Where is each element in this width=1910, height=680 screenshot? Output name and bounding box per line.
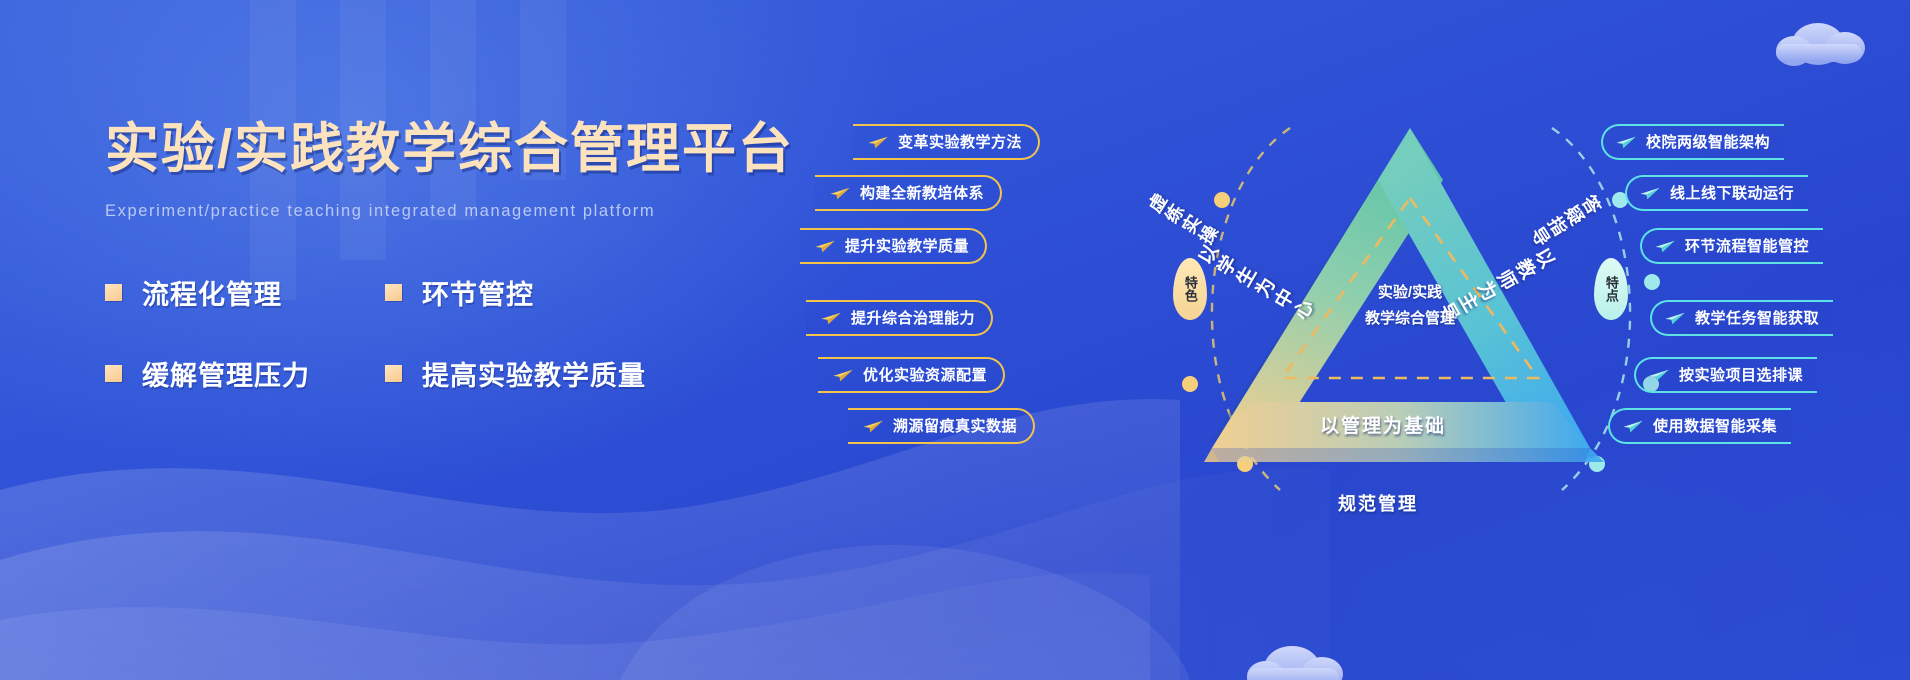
paper-plane-icon bbox=[1664, 311, 1686, 325]
left-pill-2[interactable]: 构建全新教培体系 bbox=[815, 175, 1002, 211]
paper-plane-icon bbox=[862, 419, 884, 433]
feature-bullet-list: 流程化管理 环节管控 缓解管理压力 提高实验教学质量 bbox=[105, 273, 805, 393]
bullet-label: 流程化管理 bbox=[142, 273, 282, 312]
hero-banner: 实验/实践教学综合管理平台 Experiment/practice teachi… bbox=[0, 0, 1910, 680]
right-pill-3[interactable]: 环节流程智能管控 bbox=[1640, 228, 1823, 264]
page-subtitle: Experiment/practice teaching integrated … bbox=[105, 202, 805, 221]
right-pill-label: 校院两级智能架构 bbox=[1646, 135, 1770, 150]
left-pill-label: 变革实验教学方法 bbox=[898, 135, 1022, 150]
left-pill-1[interactable]: 变革实验教学方法 bbox=[853, 124, 1040, 160]
paper-plane-icon bbox=[829, 186, 851, 200]
right-pill-5[interactable]: 按实验项目选排课 bbox=[1634, 357, 1817, 393]
list-item: 流程化管理 bbox=[105, 273, 385, 312]
right-badge-label: 特点 bbox=[1604, 276, 1618, 302]
bullet-square-icon bbox=[385, 284, 402, 301]
bullet-square-icon bbox=[105, 365, 122, 382]
paper-plane-icon bbox=[1648, 368, 1670, 382]
bullet-label: 环节管控 bbox=[422, 273, 534, 312]
cloud-icon-bottom-center bbox=[1247, 646, 1343, 680]
right-pill-4[interactable]: 教学任务智能获取 bbox=[1650, 300, 1833, 336]
paper-plane-icon bbox=[832, 368, 854, 382]
right-pill-label: 使用数据智能采集 bbox=[1653, 419, 1777, 434]
outer-label-bottom: 规范管理 bbox=[1338, 490, 1418, 516]
right-pill-label: 按实验项目选排课 bbox=[1679, 368, 1803, 383]
right-pill-2[interactable]: 线上线下联动运行 bbox=[1625, 175, 1808, 211]
paper-plane-icon bbox=[867, 135, 889, 149]
paper-plane-icon bbox=[1639, 186, 1661, 200]
triangle-center-line2: 教学综合管理 bbox=[1326, 306, 1494, 332]
bullet-label: 缓解管理压力 bbox=[142, 354, 310, 393]
bullet-square-icon bbox=[385, 365, 402, 382]
paper-plane-icon bbox=[1622, 419, 1644, 433]
left-pill-label: 溯源留痕真实数据 bbox=[893, 419, 1017, 434]
left-pill-4[interactable]: 提升综合治理能力 bbox=[806, 300, 993, 336]
left-pill-label: 构建全新教培体系 bbox=[860, 186, 984, 201]
bullet-square-icon bbox=[105, 284, 122, 301]
paper-plane-icon bbox=[1654, 239, 1676, 253]
left-pill-6[interactable]: 溯源留痕真实数据 bbox=[848, 408, 1035, 444]
triangle-center-line1: 实验/实践 bbox=[1338, 280, 1482, 306]
right-pill-6[interactable]: 使用数据智能采集 bbox=[1608, 408, 1791, 444]
right-pill-label: 环节流程智能管控 bbox=[1685, 239, 1809, 254]
triangle-diagram: 以学生为中心 以教师为主导 以管理为基础 实验/实践 教学综合管理 虚练实操 答… bbox=[1160, 110, 1660, 510]
left-pill-label: 提升实验教学质量 bbox=[845, 239, 969, 254]
list-item: 环节管控 bbox=[385, 273, 705, 312]
paper-plane-icon bbox=[814, 239, 836, 253]
list-item: 提高实验教学质量 bbox=[385, 354, 705, 393]
paper-plane-icon bbox=[820, 311, 842, 325]
left-pill-3[interactable]: 提升实验教学质量 bbox=[800, 228, 987, 264]
right-pill-label: 教学任务智能获取 bbox=[1695, 311, 1819, 326]
list-item: 缓解管理压力 bbox=[105, 354, 385, 393]
left-pill-label: 优化实验资源配置 bbox=[863, 368, 987, 383]
hero-text-block: 实验/实践教学综合管理平台 Experiment/practice teachi… bbox=[105, 118, 805, 393]
left-pill-5[interactable]: 优化实验资源配置 bbox=[818, 357, 1005, 393]
right-pill-1[interactable]: 校院两级智能架构 bbox=[1601, 124, 1784, 160]
cloud-icon-top-right bbox=[1776, 23, 1865, 66]
triangle-edge-bottom-label: 以管理为基础 bbox=[1320, 411, 1446, 438]
left-badge-label: 特色 bbox=[1183, 276, 1197, 302]
left-pill-label: 提升综合治理能力 bbox=[851, 311, 975, 326]
bullet-label: 提高实验教学质量 bbox=[422, 354, 646, 393]
right-pill-label: 线上线下联动运行 bbox=[1670, 186, 1794, 201]
paper-plane-icon bbox=[1615, 135, 1637, 149]
page-title: 实验/实践教学综合管理平台 bbox=[105, 118, 805, 180]
